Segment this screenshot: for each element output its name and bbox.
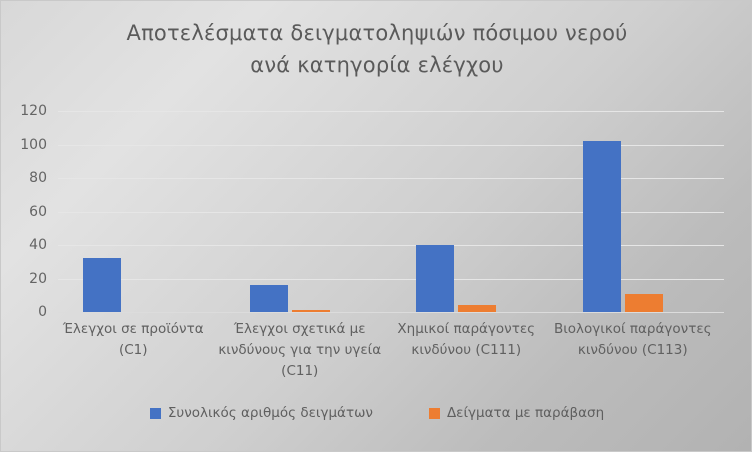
x-axis-tick-label: Χημικοί παράγοντες κινδύνου (C111)	[383, 319, 550, 361]
legend-item[interactable]: Δείγματα με παράβαση	[429, 406, 604, 420]
legend-item[interactable]: Συνολικός αριθμός δειγμάτων	[150, 406, 373, 420]
bar[interactable]	[250, 285, 288, 312]
chart-title: Αποτελέσματα δειγματοληψιών πόσιμου νερο…	[61, 17, 693, 81]
gridline	[58, 145, 724, 146]
bar[interactable]	[625, 294, 663, 312]
gridline	[58, 212, 724, 213]
y-axis-tick-label: 80	[7, 171, 47, 185]
chart-legend: Συνολικός αριθμός δειγμάτωνΔείγματα με π…	[1, 406, 752, 420]
x-axis-tick-label: Έλεγχοι σχετικά με κινδύνους για την υγε…	[217, 319, 384, 382]
gridline	[58, 178, 724, 179]
y-axis: 020406080100120	[7, 111, 51, 312]
bar[interactable]	[292, 310, 330, 312]
legend-label: Δείγματα με παράβαση	[447, 406, 604, 420]
legend-swatch-icon	[150, 408, 161, 419]
x-axis-tick-label: Βιολογικοί παράγοντες κινδύνου (C113)	[550, 319, 717, 361]
gridline	[58, 279, 724, 280]
legend-swatch-icon	[429, 408, 440, 419]
plot-area	[58, 111, 724, 312]
legend-label: Συνολικός αριθμός δειγμάτων	[168, 406, 373, 420]
x-axis-tick-label: Έλεγχοι σε προϊόντα (C1)	[50, 319, 217, 361]
gridline	[58, 111, 724, 112]
y-axis-tick-label: 20	[7, 272, 47, 286]
x-axis-category-labels: Έλεγχοι σε προϊόντα (C1)Έλεγχοι σχετικά …	[58, 319, 724, 391]
bar[interactable]	[458, 305, 496, 312]
gridline	[58, 312, 724, 313]
bar[interactable]	[416, 245, 454, 312]
bar[interactable]	[583, 141, 621, 312]
y-axis-tick-label: 0	[7, 305, 47, 319]
y-axis-tick-label: 40	[7, 238, 47, 252]
chart-container: Αποτελέσματα δειγματοληψιών πόσιμου νερο…	[0, 0, 752, 452]
y-axis-tick-label: 60	[7, 205, 47, 219]
y-axis-tick-label: 120	[7, 104, 47, 118]
gridline	[58, 245, 724, 246]
y-axis-tick-label: 100	[7, 138, 47, 152]
bar[interactable]	[83, 258, 121, 312]
